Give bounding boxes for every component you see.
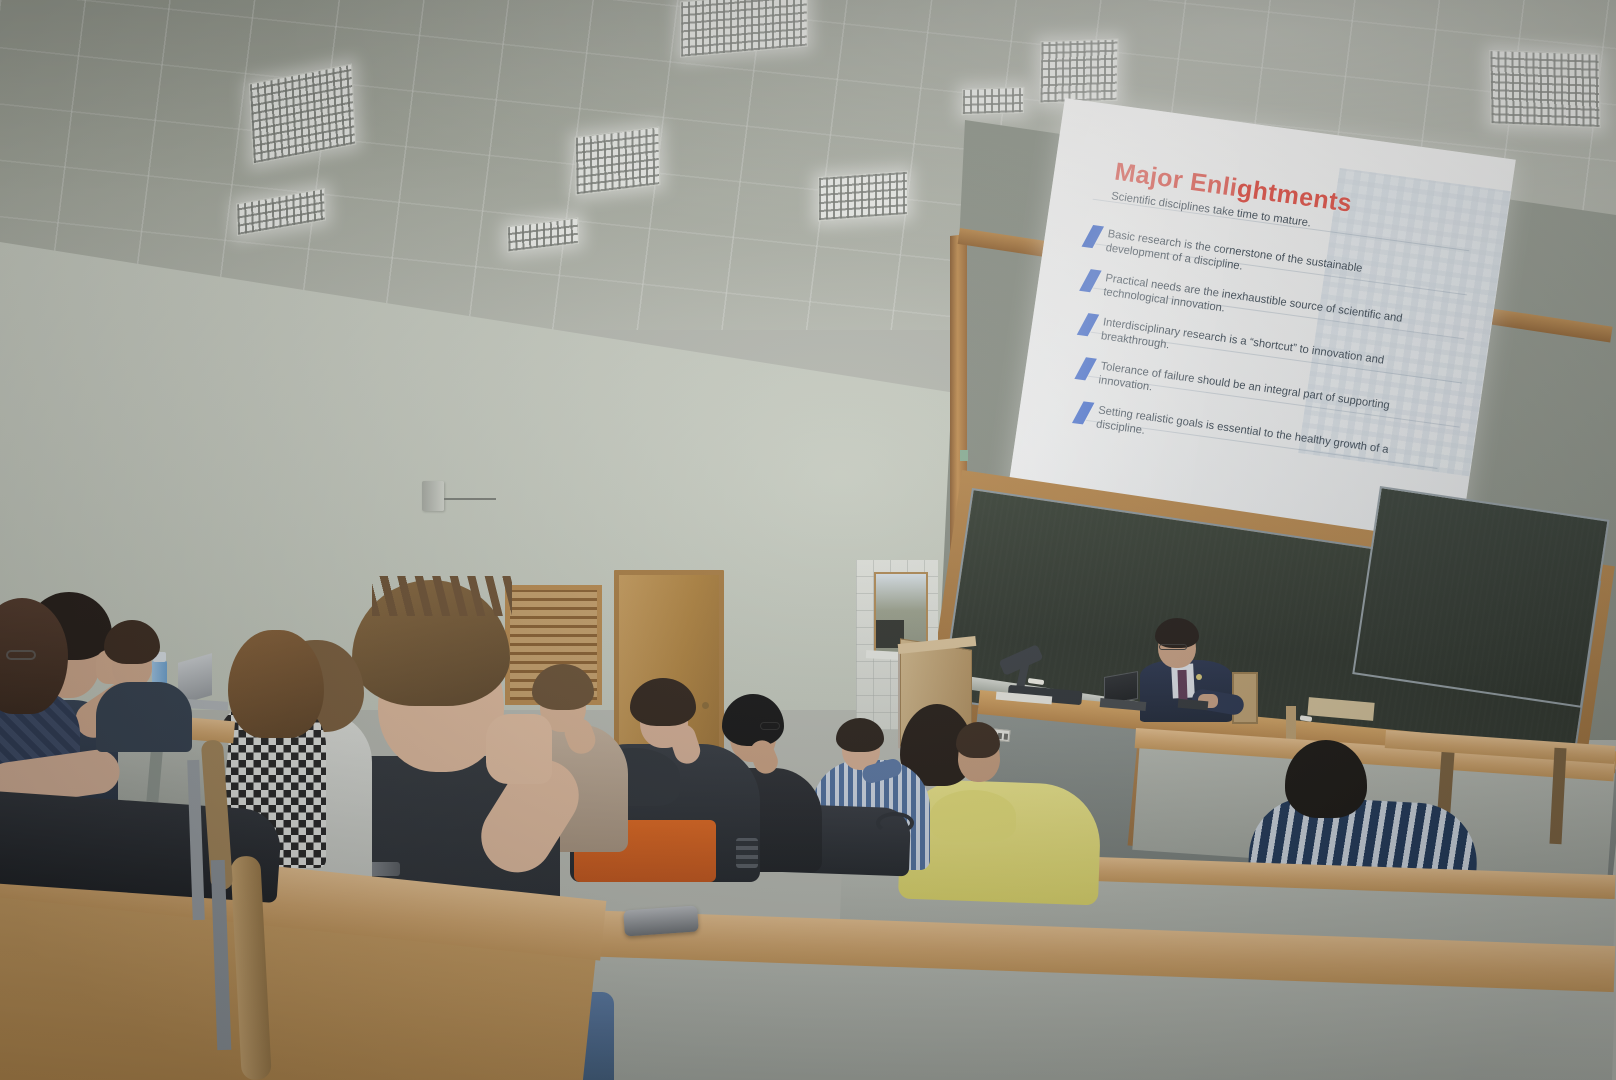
lecturer-glasses-icon: [1159, 644, 1187, 650]
smartphone[interactable]: [623, 905, 699, 936]
light-switch[interactable]: [960, 450, 968, 461]
chalkboard-side-panel: [1352, 486, 1609, 708]
lecturer-tie: [1177, 670, 1187, 700]
student-glasses-icon: [760, 722, 780, 730]
backpack-strap: [876, 812, 914, 834]
student-torso: [96, 682, 192, 752]
lecture-hall-photo: Major Enlightments Scientific discipline…: [0, 0, 1616, 1080]
lecturer-lapel-pin-icon: [1196, 674, 1202, 680]
student-hair: [836, 718, 884, 752]
student-glasses-icon: [6, 650, 36, 660]
student-sleeve-band: [736, 838, 758, 868]
wall-speaker: [422, 481, 444, 511]
student-hair: [228, 630, 324, 738]
projection-screen: Major Enlightments Scientific discipline…: [1007, 98, 1516, 556]
student-hands: [486, 714, 552, 784]
student-hair: [956, 722, 1000, 758]
student-hood: [930, 790, 1016, 842]
student-hair-spikes: [372, 576, 512, 616]
side-chair: [1286, 706, 1296, 740]
speaker-wire: [444, 498, 496, 500]
door-knob-icon[interactable]: [702, 702, 709, 709]
